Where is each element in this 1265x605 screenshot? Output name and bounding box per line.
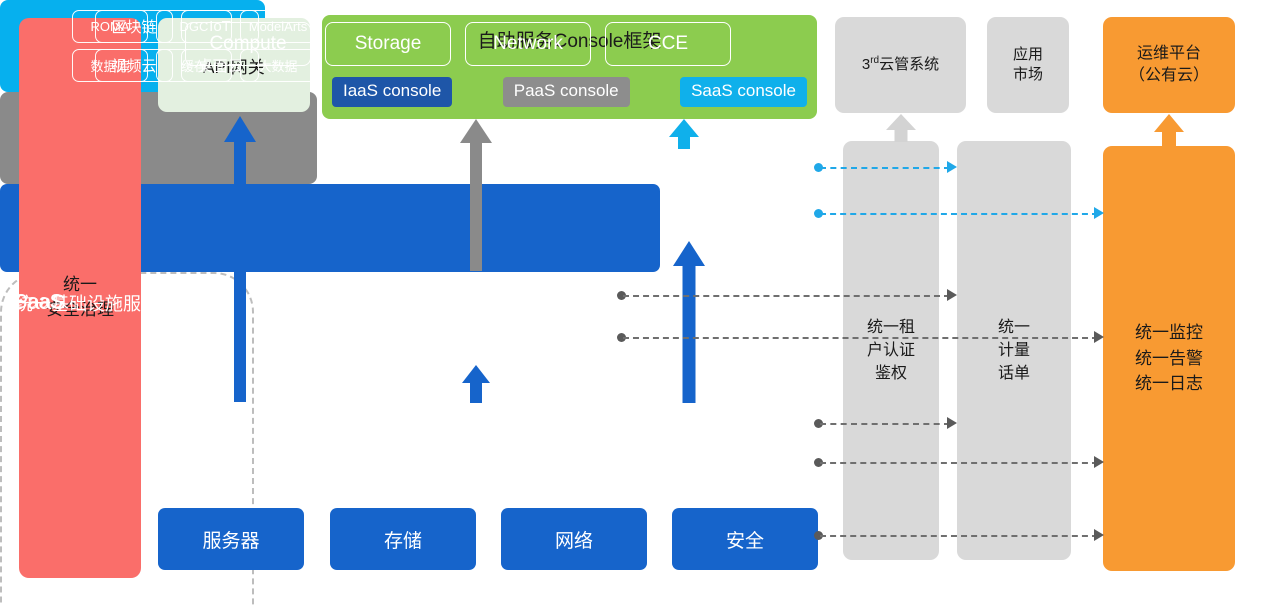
hardware-box-server[interactable]: 服务器 <box>158 508 304 570</box>
auth-line-1: 统一租 <box>867 316 915 339</box>
connector-saas-to-ops <box>820 213 1098 215</box>
auth-line-3: 鉴权 <box>867 362 915 385</box>
app-market-box[interactable]: 应用 市场 <box>987 17 1069 113</box>
hardware-box-network[interactable]: 网络 <box>501 508 647 570</box>
metering-line-1: 统一 <box>998 316 1030 339</box>
arrow-shared-to-third-party-cloud <box>885 114 917 142</box>
unified-infrastructure-label: 统一基础设施服务 <box>15 0 159 605</box>
ops-platform-line-1: 运维平台 <box>1129 43 1209 65</box>
arrow-ops-column-to-ops-header <box>1153 114 1185 148</box>
paas-console-chip[interactable]: PaaS console <box>503 77 630 107</box>
arrowhead-infra-to-ops <box>1094 456 1104 468</box>
saas-console-chip[interactable]: SaaS console <box>680 77 807 107</box>
hardware-box-storage[interactable]: 存储 <box>330 508 476 570</box>
unified-metering-billing-bar[interactable]: 统一 计量 话单 <box>957 141 1071 560</box>
infrastructure-chip-row: Compute Storage Network CCE <box>185 22 731 66</box>
iaas-console-chip[interactable]: IaaS console <box>332 77 452 107</box>
infra-service-compute[interactable]: Compute <box>185 22 311 66</box>
app-market-line-2: 市场 <box>1013 65 1043 85</box>
ops-platform-line-2: （公有云） <box>1129 65 1209 87</box>
ops-column-line-3: 统一日志 <box>1135 371 1203 397</box>
ops-column-line-1: 统一监控 <box>1135 320 1203 346</box>
third-party-suffix: 云管系统 <box>879 56 939 73</box>
arrowhead-hardware-to-ops <box>1094 529 1104 541</box>
unified-infrastructure-box[interactable]: 统一基础设施服务 Compute Storage Network CCE <box>0 184 660 272</box>
hardware-label-server: 服务器 <box>202 526 259 553</box>
connector-hardware-to-ops <box>820 535 1098 537</box>
console-chip-row: IaaS console PaaS console SaaS console <box>332 77 807 107</box>
hardware-label-storage: 存储 <box>384 526 422 553</box>
arrow-paas-to-console <box>460 119 492 271</box>
metering-line-2: 计量 <box>998 339 1030 362</box>
unified-tenant-auth-bar[interactable]: 统一租 户认证 鉴权 <box>843 141 939 560</box>
architecture-diagram: 统一 安全治理 API网关 自助服务Console框架 IaaS console… <box>0 0 1265 605</box>
arrowhead-infra-to-auth <box>947 417 957 429</box>
ops-platform-header-box[interactable]: 运维平台 （公有云） <box>1103 17 1235 113</box>
metering-line-3: 话单 <box>998 362 1030 385</box>
connector-paas-to-ops <box>623 337 1098 339</box>
unified-tenant-auth-label: 统一租 户认证 鉴权 <box>867 316 915 386</box>
ops-platform-column-label: 统一监控 统一告警 统一日志 <box>1135 320 1203 397</box>
app-market-line-1: 应用 <box>1013 45 1043 65</box>
ops-platform-column[interactable]: 统一监控 统一告警 统一日志 <box>1103 146 1235 571</box>
unified-metering-billing-label: 统一 计量 话单 <box>998 316 1030 386</box>
connector-paas-to-auth <box>623 295 950 297</box>
infra-service-storage[interactable]: Storage <box>325 22 451 66</box>
third-party-cloud-mgmt-box[interactable]: 3rd云管系统 <box>835 17 966 113</box>
arrowhead-paas-to-auth <box>947 289 957 301</box>
third-party-prefix: 3 <box>862 56 870 73</box>
hardware-label-network: 网络 <box>555 526 593 553</box>
third-party-superscript: rd <box>870 55 879 66</box>
arrow-saas-to-saas-console <box>668 119 700 149</box>
arrowhead-paas-to-ops <box>1094 331 1104 343</box>
arrow-infra-to-saas <box>673 241 705 403</box>
arrow-infra-to-paas <box>460 365 492 403</box>
infra-service-cce[interactable]: CCE <box>605 22 731 66</box>
arrowhead-saas-to-auth <box>947 161 957 173</box>
ops-platform-header-label: 运维平台 （公有云） <box>1129 43 1209 86</box>
arrowhead-saas-to-ops <box>1094 207 1104 219</box>
infra-service-network[interactable]: Network <box>465 22 591 66</box>
connector-saas-to-auth <box>820 167 950 169</box>
auth-line-2: 户认证 <box>867 339 915 362</box>
app-market-label: 应用 市场 <box>1013 45 1043 86</box>
hardware-label-security: 安全 <box>726 526 764 553</box>
connector-infra-to-auth <box>820 423 950 425</box>
ops-column-line-2: 统一告警 <box>1135 346 1203 372</box>
arrow-infra-to-api-gateway <box>224 116 256 402</box>
third-party-cloud-label: 3rd云管系统 <box>862 54 939 75</box>
hardware-box-security[interactable]: 安全 <box>672 508 818 570</box>
connector-infra-to-ops <box>820 462 1098 464</box>
